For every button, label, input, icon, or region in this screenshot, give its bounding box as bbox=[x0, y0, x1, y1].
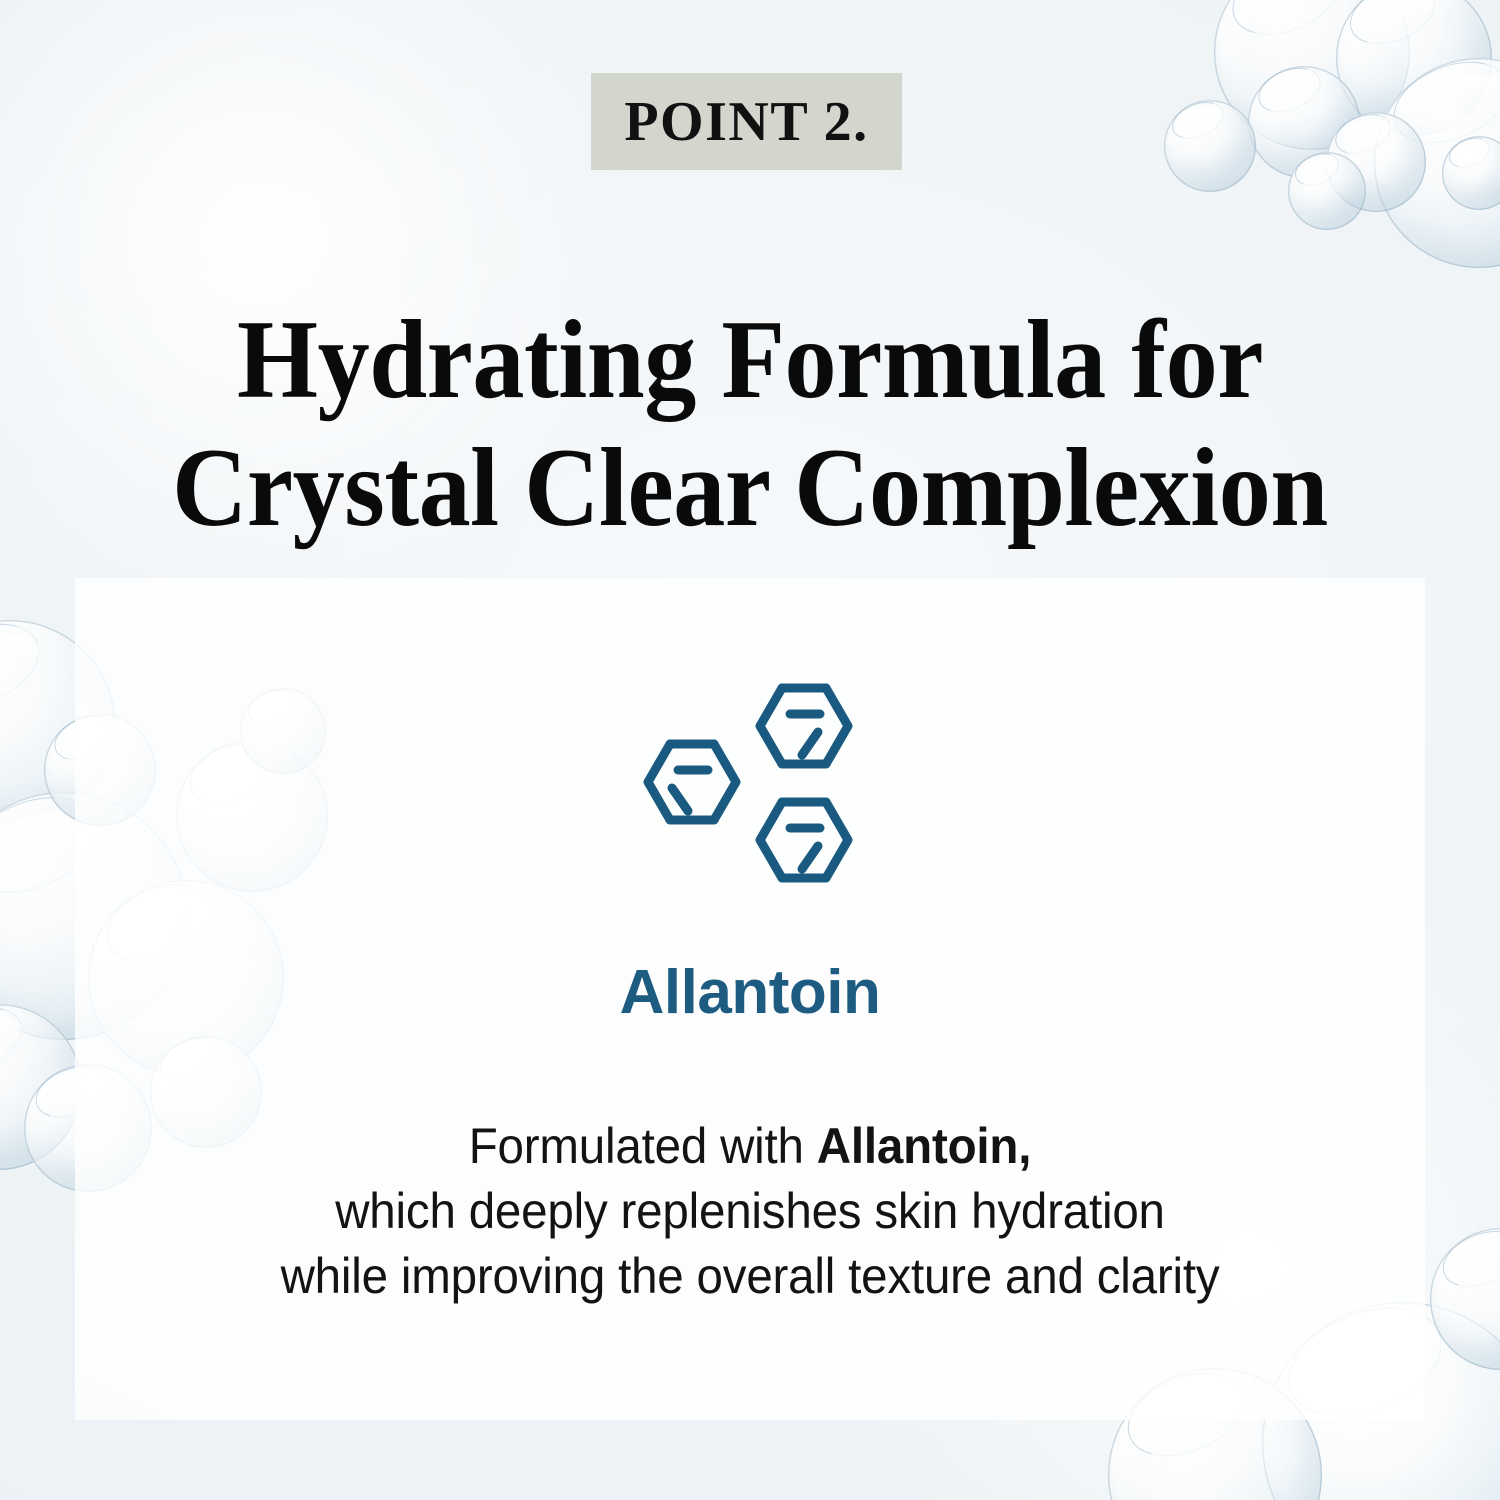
point-badge: POINT 2. bbox=[591, 73, 902, 170]
point-badge-label: POINT 2. bbox=[624, 94, 868, 150]
description-line-1: Formulated with Allantoin, bbox=[38, 1114, 1463, 1179]
page-title-line-1: Hydrating Formula for bbox=[53, 297, 1448, 425]
ingredient-description: Formulated with Allantoin, which deeply … bbox=[38, 1114, 1463, 1309]
description-line-1-prefix: Formulated with bbox=[469, 1118, 817, 1174]
page-title-line-2: Crystal Clear Complexion bbox=[53, 425, 1448, 553]
page-title: Hydrating Formula for Crystal Clear Comp… bbox=[53, 297, 1448, 552]
description-line-1-emphasis: Allantoin, bbox=[817, 1118, 1031, 1174]
description-line-3: while improving the overall texture and … bbox=[38, 1244, 1463, 1309]
ingredient-name: Allantoin bbox=[0, 962, 1500, 1024]
promo-slide: POINT 2. Hydrating Formula for Crystal C… bbox=[0, 0, 1500, 1500]
description-line-2: which deeply replenishes skin hydration bbox=[38, 1179, 1463, 1244]
hexagon-molecule-icon bbox=[622, 672, 886, 936]
